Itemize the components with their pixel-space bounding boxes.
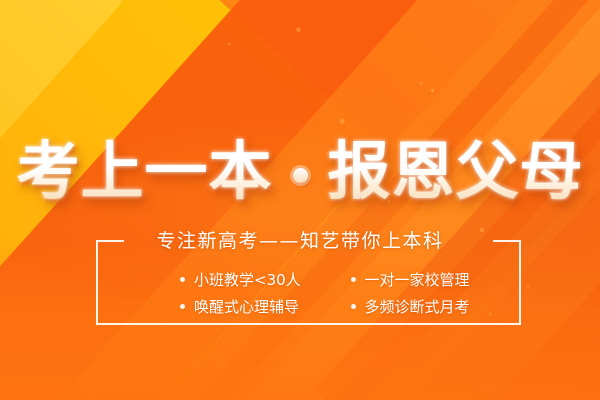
feature-label: 小班教学<30人 — [194, 270, 301, 290]
headline-right-text: 报恩父母 — [328, 137, 584, 207]
feature-item: 多频诊断式月考 — [351, 297, 470, 317]
feature-item: 唤醒式心理辅导 — [180, 297, 299, 317]
headline-left-text: 考上一本 — [17, 137, 273, 207]
bullet-dot-icon — [351, 304, 356, 309]
promo-banner: 考上一本 报恩父母 专注新高考——知艺带你上本科 小班教学<30人 一对一家校管… — [0, 0, 600, 400]
bullet-dot-icon — [351, 277, 356, 282]
headline-separator-dot-icon — [293, 168, 308, 183]
headline: 考上一本 报恩父母 — [0, 132, 600, 212]
bullet-dot-icon — [180, 277, 185, 282]
feature-list: 小班教学<30人 一对一家校管理 唤醒式心理辅导 多频诊断式月考 — [96, 262, 521, 324]
feature-label: 一对一家校管理 — [365, 270, 470, 290]
subtitle: 专注新高考——知艺带你上本科 — [0, 228, 600, 254]
feature-label: 唤醒式心理辅导 — [194, 297, 299, 317]
feature-label: 多频诊断式月考 — [365, 297, 470, 317]
feature-item: 小班教学<30人 — [180, 270, 301, 290]
bullet-dot-icon — [180, 304, 185, 309]
feature-item: 一对一家校管理 — [351, 270, 470, 290]
